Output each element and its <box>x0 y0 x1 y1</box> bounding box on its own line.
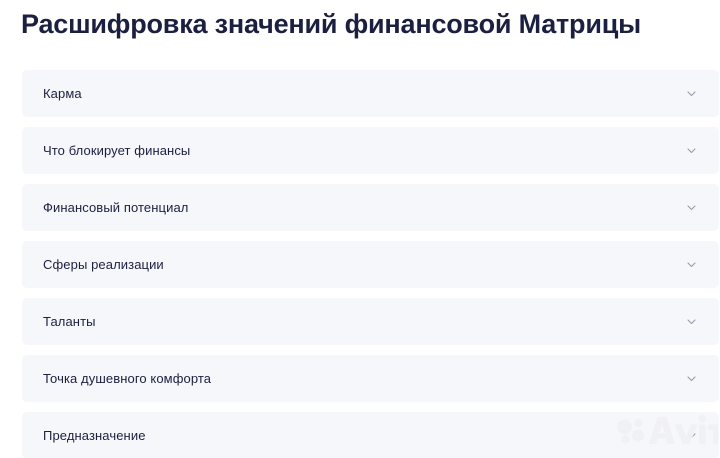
accordion-item-what-blocks-finances[interactable]: Что блокирует финансы <box>22 127 719 174</box>
accordion-item-label: Что блокирует финансы <box>43 142 685 159</box>
chevron-down-icon[interactable] <box>685 315 698 328</box>
accordion-item-label: Предназначение <box>43 427 685 444</box>
chevron-down-icon[interactable] <box>685 429 698 442</box>
chevron-down-icon[interactable] <box>685 87 698 100</box>
accordion-item-label: Сферы реализации <box>43 256 685 273</box>
page-root: Расшифровка значений финансовой Матрицы … <box>0 0 720 458</box>
chevron-down-icon[interactable] <box>685 258 698 271</box>
page-title: Расшифровка значений финансовой Матрицы <box>21 7 711 41</box>
accordion-item-label: Финансовый потенциал <box>43 199 685 216</box>
accordion-item-label: Точка душевного комфорта <box>43 370 685 387</box>
chevron-down-icon[interactable] <box>685 201 698 214</box>
accordion-list: Карма Что блокирует финансы Финансовый п… <box>22 70 719 458</box>
accordion-item-label: Таланты <box>43 313 685 330</box>
chevron-down-icon[interactable] <box>685 372 698 385</box>
chevron-down-icon[interactable] <box>685 144 698 157</box>
accordion-item-karma[interactable]: Карма <box>22 70 719 117</box>
accordion-item-comfort-point[interactable]: Точка душевного комфорта <box>22 355 719 402</box>
accordion-item-spheres-of-realization[interactable]: Сферы реализации <box>22 241 719 288</box>
accordion-item-financial-potential[interactable]: Финансовый потенциал <box>22 184 719 231</box>
accordion-item-purpose[interactable]: Предназначение <box>22 412 719 458</box>
accordion-item-label: Карма <box>43 85 685 102</box>
accordion-item-talents[interactable]: Таланты <box>22 298 719 345</box>
